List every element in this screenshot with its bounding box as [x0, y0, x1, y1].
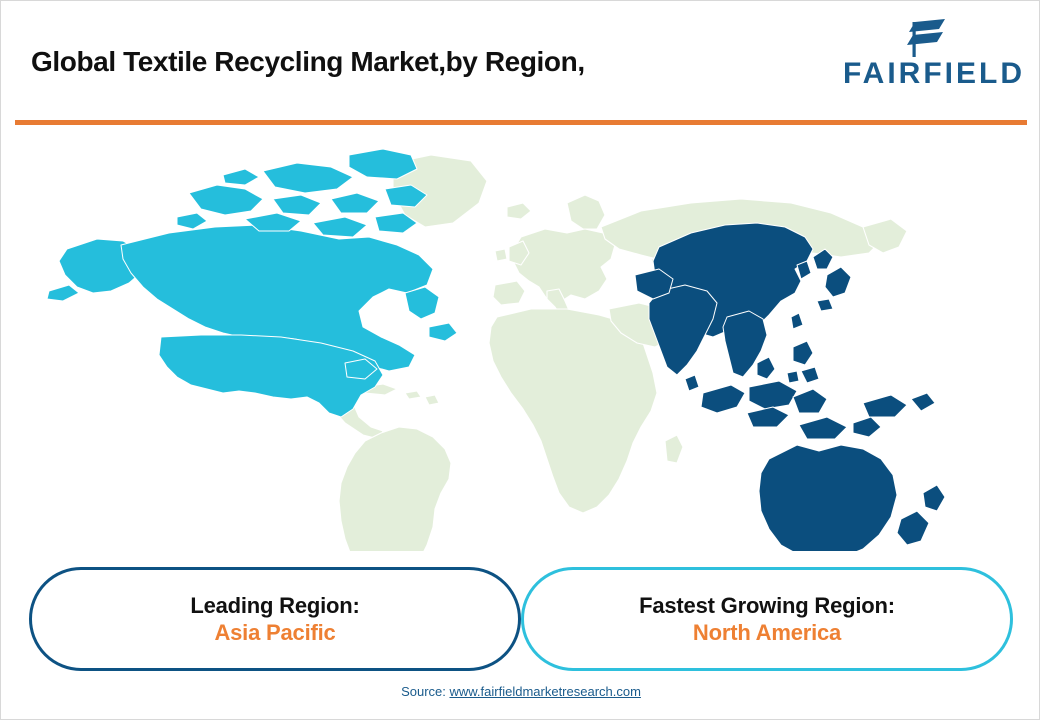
map-highlight-asia-pacific [635, 223, 945, 551]
region-cards: Leading Region: Asia Pacific Fastest Gro… [29, 567, 1013, 671]
source-line: Source: www.fairfieldmarketresearch.com [1, 684, 1040, 699]
header: Global Textile Recycling Market,by Regio… [1, 1, 1040, 119]
page-title: Global Textile Recycling Market,by Regio… [31, 46, 585, 78]
fairfield-flag-icon [903, 17, 951, 59]
source-prefix: Source: [401, 684, 449, 699]
fairfield-logo: FAIRFIELD [843, 15, 1023, 101]
fastest-growing-region-label: Fastest Growing Region: [639, 592, 895, 620]
leading-region-label: Leading Region: [190, 592, 359, 620]
fairfield-wordmark: FAIRFIELD [843, 59, 1023, 89]
world-map [1, 141, 1040, 551]
leading-region-card[interactable]: Leading Region: Asia Pacific [29, 567, 521, 671]
header-accent-rule [15, 120, 1027, 125]
leading-region-value: Asia Pacific [214, 619, 335, 647]
infographic-page: Global Textile Recycling Market,by Regio… [0, 0, 1040, 720]
source-link[interactable]: www.fairfieldmarketresearch.com [449, 684, 640, 699]
fastest-growing-region-value: North America [693, 619, 841, 647]
fastest-growing-region-card[interactable]: Fastest Growing Region: North America [521, 567, 1013, 671]
map-highlight-north-america [47, 149, 457, 417]
